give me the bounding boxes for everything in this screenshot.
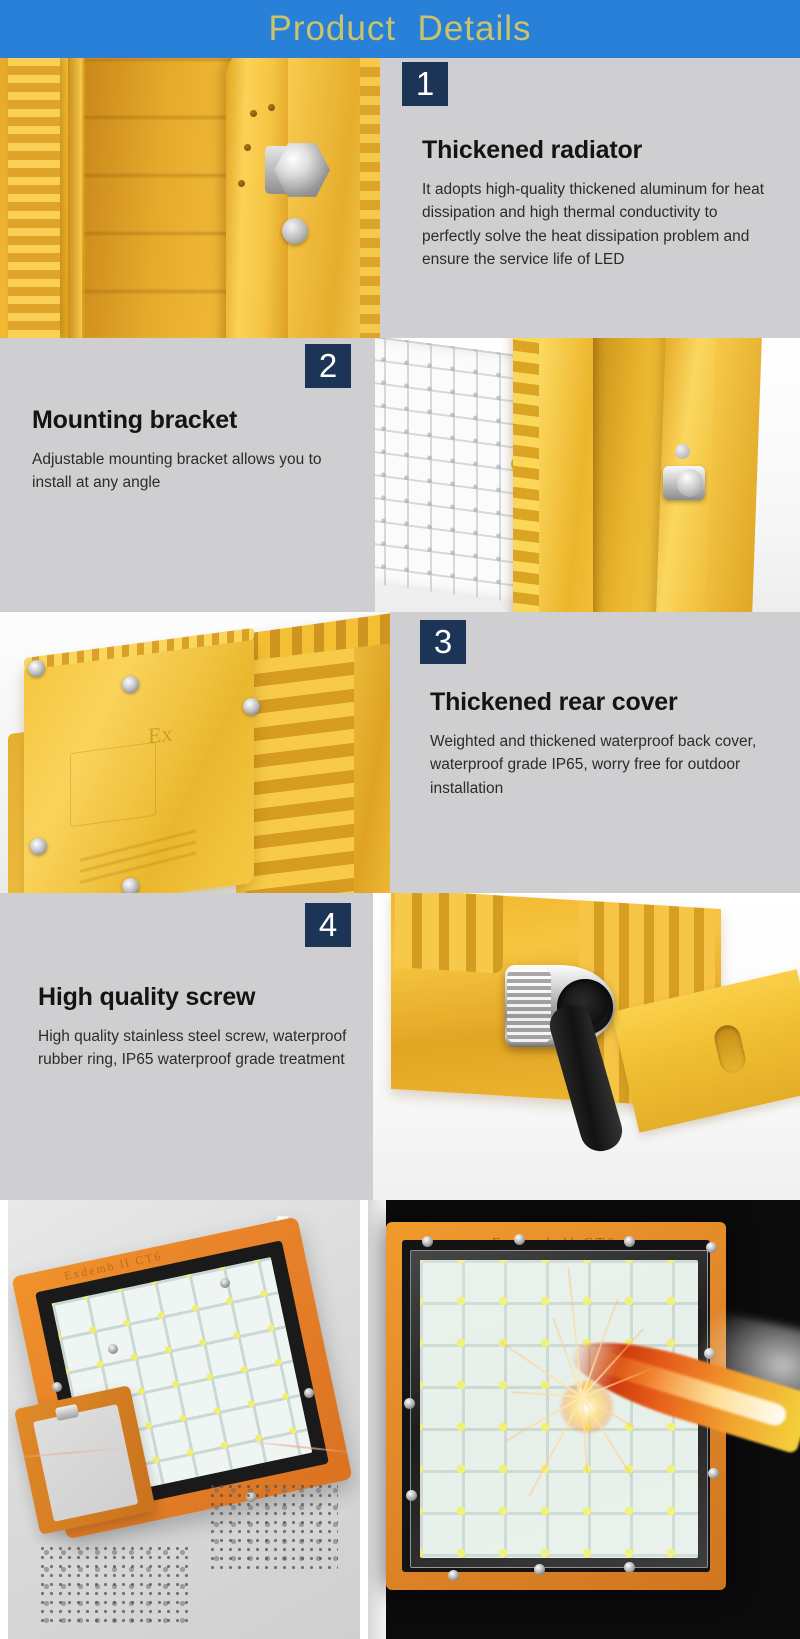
housing-sidewall (288, 58, 380, 338)
feature-heading-3: Thickened rear cover (430, 688, 778, 717)
frame-screw-icon (448, 1570, 459, 1581)
feature-heading-1: Thickened radiator (422, 136, 770, 165)
frame-screw-icon (624, 1236, 635, 1247)
feature-panel-3: 3 Thickened rear cover Weighted and thic… (390, 612, 800, 893)
feature-panel-4: 4 High quality screw High quality stainl… (0, 893, 373, 1200)
frame-screw-icon (406, 1490, 417, 1501)
feature-row-4: 4 High quality screw High quality stainl… (0, 893, 800, 1200)
rear-housing-body (236, 642, 390, 893)
frame-screw-icon (52, 1382, 62, 1392)
rear-cover-plate (24, 633, 254, 893)
frame-screw-icon (404, 1398, 415, 1409)
feature-row-2: 2 Mounting bracket Adjustable mounting b… (0, 338, 800, 612)
cover-screw-icon (30, 838, 47, 855)
embossed-logo-plate (70, 742, 156, 827)
bracket-arm (226, 58, 292, 338)
cover-screw-icon (243, 698, 260, 715)
frame-screw-icon (422, 1236, 433, 1247)
feature-row-3: Ex 3 Thickened rear cover Weighted and t… (0, 612, 800, 893)
feature-body-4: High quality stainless steel screw, wate… (38, 1025, 368, 1072)
frame-screw-icon (304, 1388, 314, 1398)
feature-panel-2: 2 Mounting bracket Adjustable mounting b… (0, 338, 375, 612)
feature-text-1: Thickened radiator It adopts high-qualit… (422, 136, 770, 271)
cover-screw-icon (122, 878, 139, 893)
feature-body-1: It adopts high-quality thickened aluminu… (422, 178, 770, 271)
frame-screw-icon (624, 1562, 635, 1573)
feature-photo-2 (375, 338, 800, 612)
embossed-ex-mark: Ex (148, 720, 172, 749)
feature-body-3: Weighted and thickened waterproof back c… (430, 730, 778, 800)
page-title: Product Details (268, 9, 531, 49)
product-details-page: Product Details 1 Thickened radiator It (0, 0, 800, 1639)
feature-photo-4 (373, 893, 800, 1200)
feature-photo-1 (0, 58, 380, 338)
mounting-bracket-outer (705, 338, 763, 612)
step-badge-3: 3 (420, 620, 466, 664)
frame-screw-icon (514, 1234, 525, 1245)
feature-text-3: Thickened rear cover Weighted and thicke… (430, 688, 778, 800)
bracket-screw-icon (675, 444, 690, 459)
feature-photo-3: Ex (0, 612, 390, 893)
panel-edge (368, 1200, 386, 1639)
page-header-banner: Product Details (0, 0, 800, 58)
water-splash (208, 1482, 338, 1572)
frame-screw-icon (108, 1344, 118, 1354)
heat-fin-column (8, 58, 60, 338)
feature-heading-2: Mounting bracket (32, 406, 362, 435)
gallery-photo-waterproof: Exdemb ll CT6 (8, 1200, 360, 1639)
embossed-label-lines (80, 829, 196, 887)
feature-panel-1: 1 Thickened radiator It adopts high-qual… (380, 58, 800, 338)
feature-text-4: High quality screw High quality stainles… (38, 983, 368, 1072)
cover-screw-icon (122, 676, 139, 693)
phillips-screw-icon (282, 218, 308, 244)
frame-screw-icon (534, 1564, 545, 1575)
feature-row-1: 1 Thickened radiator It adopts high-qual… (0, 58, 800, 338)
feature-text-2: Mounting bracket Adjustable mounting bra… (32, 406, 362, 495)
gallery-photo-impact: Exdemb ll CT6 (368, 1200, 800, 1639)
frame-screw-icon (220, 1278, 230, 1288)
step-badge-2: 2 (305, 344, 351, 388)
frame-screw-icon (706, 1242, 717, 1253)
feature-body-2: Adjustable mounting bracket allows you t… (32, 448, 362, 495)
frame-screw-icon (708, 1468, 719, 1479)
feature-heading-4: High quality screw (38, 983, 368, 1012)
step-badge-1: 1 (402, 62, 448, 106)
bracket-adjust-knob (663, 466, 705, 500)
cover-screw-icon (28, 660, 45, 677)
step-badge-4: 4 (305, 903, 351, 947)
water-splash (38, 1544, 188, 1624)
heat-fin-edge (68, 58, 82, 338)
gallery-row: Exdemb ll CT6 Exdemb ll CT6 (0, 1200, 800, 1639)
